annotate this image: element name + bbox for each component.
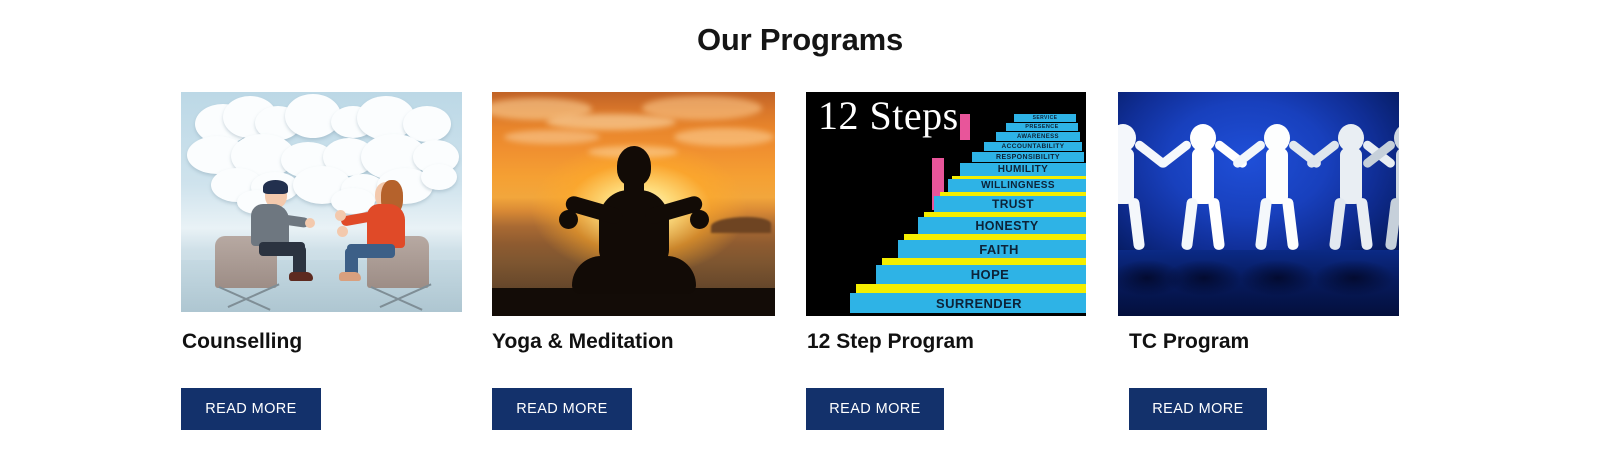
read-more-button-counselling[interactable]: READ MORE (181, 388, 321, 430)
programs-card-grid: Counselling READ MORE (181, 92, 1441, 452)
card-title-counselling: Counselling (182, 331, 302, 352)
counselling-illustration (181, 92, 462, 312)
paper-figure (1384, 124, 1399, 254)
paper-figure (1180, 124, 1226, 254)
yoga-meditation-sunset-photo (492, 92, 775, 316)
step-label-awareness: AWARENESS (996, 132, 1080, 141)
paper-figure (1254, 124, 1300, 254)
step-label-surrender: SURRENDER (850, 293, 1086, 313)
step-label-presence: PRESENCE (1006, 123, 1078, 131)
step-label-humility: HUMILITY (960, 163, 1086, 176)
step-label-accountability: ACCOUNTABILITY (984, 142, 1082, 151)
step-label-honesty: HONESTY (918, 217, 1086, 234)
twelve-steps-staircase-graphic: 12 Steps SERVICE PRESENCE AWARENESS ACCO… (806, 92, 1086, 316)
card-title-yoga-meditation: Yoga & Meditation (492, 331, 674, 352)
paper-people-chain-photo (1118, 92, 1399, 316)
card-title-tc: TC Program (1129, 331, 1249, 352)
program-card-yoga-meditation: Yoga & Meditation READ MORE (492, 92, 776, 316)
step-label-hope: HOPE (876, 265, 1086, 284)
step-label-willingness: WILLINGNESS (948, 179, 1086, 192)
meditating-figure-silhouette (559, 146, 709, 294)
step-label-faith: FAITH (898, 240, 1086, 258)
step-label-trust: TRUST (934, 196, 1086, 212)
program-card-tc: TC Program READ MORE (1118, 92, 1398, 316)
paper-figure (1118, 124, 1146, 254)
page-title: Our Programs (0, 22, 1600, 58)
card-title-12-step: 12 Step Program (807, 331, 974, 352)
step-label-responsibility: RESPONSIBILITY (972, 152, 1084, 162)
program-card-counselling: Counselling READ MORE (181, 92, 465, 312)
program-card-12-step: 12 Steps SERVICE PRESENCE AWARENESS ACCO… (806, 92, 1086, 316)
paper-figure (1328, 124, 1374, 254)
read-more-button-12-step[interactable]: READ MORE (806, 388, 944, 430)
twelve-steps-heading: 12 Steps (818, 96, 959, 136)
read-more-button-yoga-meditation[interactable]: READ MORE (492, 388, 632, 430)
read-more-button-tc[interactable]: READ MORE (1129, 388, 1267, 430)
step-label-service: SERVICE (1014, 114, 1076, 122)
